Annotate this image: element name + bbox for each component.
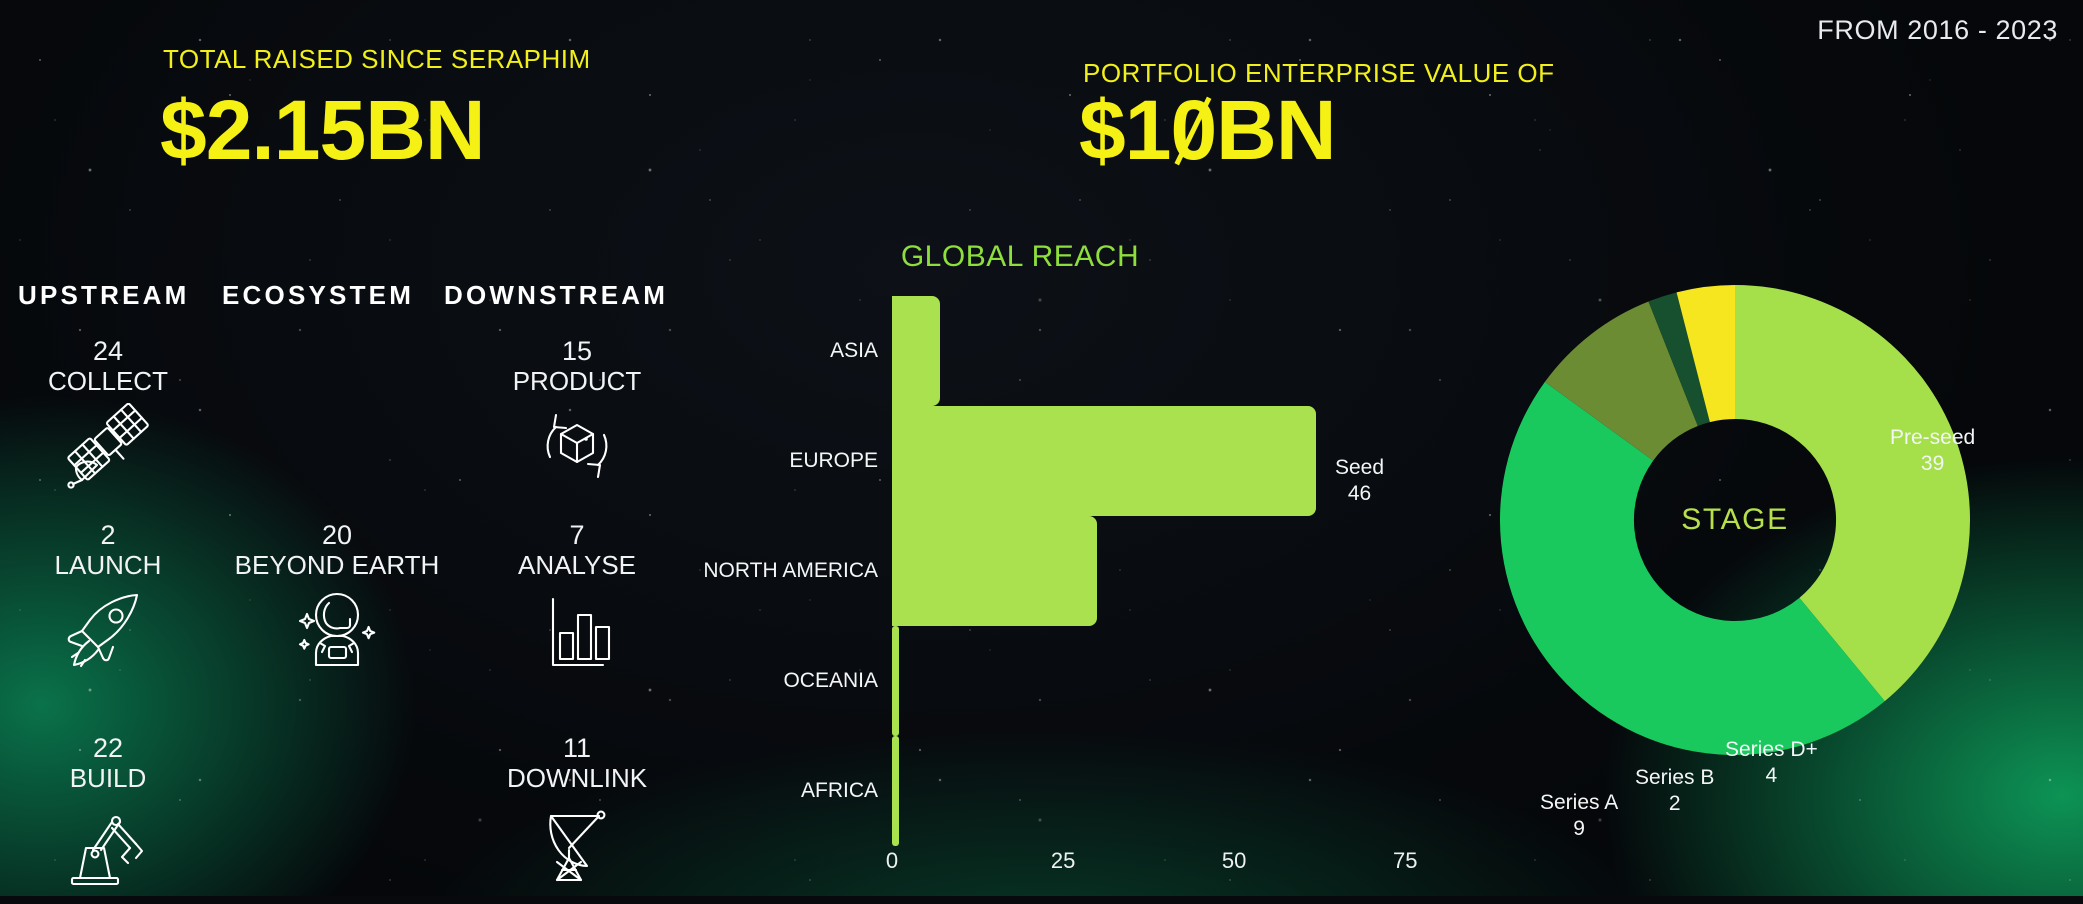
- bar-row: OCEANIA: [700, 626, 1460, 736]
- bar-row: NORTH AMERICA: [700, 516, 1460, 626]
- x-axis-tick: 0: [886, 848, 898, 874]
- bar-category-label: EUROPE: [700, 449, 892, 473]
- global-reach-chart: GLOBAL REACH ASIA EUROPE NORTH AMERICA: [700, 240, 1460, 880]
- sector-label: PRODUCT: [462, 367, 692, 397]
- satellite-dish-icon: [462, 800, 692, 886]
- content-layer: FROM 2016 - 2023 TOTAL RAISED SINCE SERA…: [0, 0, 2083, 904]
- sector-item-downlink: 11 DOWNLINK: [462, 733, 692, 886]
- donut-label-value: 39: [1890, 451, 1975, 477]
- sector-count: 22: [0, 733, 223, 764]
- bar-fill: [892, 626, 899, 736]
- sector-count: 15: [462, 336, 692, 367]
- x-axis: 0 25 50 75: [892, 848, 1460, 880]
- sector-count: 11: [462, 733, 692, 764]
- bar-row: AFRICA: [700, 736, 1460, 846]
- sector-breakdown: UPSTREAM ECOSYSTEM DOWNSTREAM 24 COLLECT: [0, 280, 700, 880]
- bar-fill: [892, 736, 899, 846]
- sector-item-collect: 24 COLLECT: [0, 336, 223, 489]
- stat-right-value-suffix: BN: [1216, 83, 1335, 177]
- sector-item-launch: 2 LAUNCH: [0, 520, 223, 673]
- sector-label: COLLECT: [0, 367, 223, 397]
- astronaut-icon: [222, 587, 452, 673]
- bar-category-label: AFRICA: [700, 779, 892, 803]
- donut-svg: [1500, 285, 1970, 755]
- sector-label: BEYOND EARTH: [222, 551, 452, 581]
- donut-label-name: Series D+: [1725, 737, 1818, 763]
- donut-rings: [1500, 285, 1970, 755]
- sector-count: 24: [0, 336, 223, 367]
- column-header-upstream: UPSTREAM: [18, 280, 190, 311]
- stat-left-kicker: TOTAL RAISED SINCE SERAPHIM: [163, 44, 591, 75]
- sector-label: DOWNLINK: [462, 764, 692, 794]
- sector-label: ANALYSE: [462, 551, 692, 581]
- bar-category-label: NORTH AMERICA: [700, 559, 892, 583]
- sector-label: LAUNCH: [0, 551, 223, 581]
- bar-fill: [892, 406, 1316, 516]
- donut-label-value: 4: [1725, 763, 1818, 789]
- donut-label-value: 2: [1635, 791, 1714, 817]
- stage-donut-chart: STAGE Pre-seed 39 Seed 46 Series A 9 Ser…: [1460, 285, 2020, 845]
- chart-title: GLOBAL REACH: [700, 240, 1340, 274]
- donut-label-value: 46: [1335, 481, 1384, 507]
- donut-label-series-b: Series B 2: [1635, 765, 1714, 818]
- rocket-icon: [0, 587, 223, 673]
- x-axis-tick: 50: [1222, 848, 1246, 874]
- infographic-canvas: FROM 2016 - 2023 TOTAL RAISED SINCE SERA…: [0, 0, 2083, 904]
- date-range-label: FROM 2016 - 2023: [1817, 15, 2058, 46]
- x-axis-tick: 25: [1051, 848, 1075, 874]
- donut-label-name: Seed: [1335, 455, 1384, 481]
- donut-slice-group: [1500, 285, 1970, 755]
- stat-left-value: $2.15BN: [160, 82, 485, 179]
- stat-right-value-prefix: $1: [1079, 83, 1170, 177]
- bar-row: ASIA: [700, 296, 1460, 406]
- sector-item-product: 15 PRODUCT: [462, 336, 692, 489]
- bar-category-label: ASIA: [700, 339, 892, 363]
- donut-label-series-d: Series D+ 4: [1725, 737, 1818, 790]
- satellite-icon: [0, 403, 223, 489]
- sector-count: 7: [462, 520, 692, 551]
- donut-label-series-a: Series A 9: [1540, 790, 1618, 843]
- donut-label-value: 9: [1540, 816, 1618, 842]
- bar-fill: [892, 296, 940, 406]
- bar-track: [892, 736, 1460, 846]
- bar-track: [892, 296, 1460, 406]
- donut-label-pre-seed: Pre-seed 39: [1890, 425, 1975, 478]
- column-header-downstream: DOWNSTREAM: [444, 280, 668, 311]
- donut-label-name: Series B: [1635, 765, 1714, 791]
- bar-chart-icon: [462, 587, 692, 673]
- sector-count: 2: [0, 520, 223, 551]
- sector-count: 20: [222, 520, 452, 551]
- donut-label-seed: Seed 46: [1335, 455, 1384, 508]
- sector-item-beyond-earth: 20 BEYOND EARTH: [222, 520, 452, 673]
- sector-label: BUILD: [0, 764, 223, 794]
- x-axis-tick: 75: [1393, 848, 1417, 874]
- package-cycle-icon: [462, 403, 692, 489]
- stat-right-value: $10BN: [1079, 82, 1335, 179]
- bottom-edge-bar: [0, 896, 2083, 904]
- column-header-ecosystem: ECOSYSTEM: [222, 280, 414, 311]
- stat-right-value-zero: 0: [1170, 82, 1216, 179]
- bar-category-label: OCEANIA: [700, 669, 892, 693]
- bar-fill: [892, 516, 1097, 626]
- sector-item-build: 22 BUILD: [0, 733, 223, 886]
- donut-label-name: Pre-seed: [1890, 425, 1975, 451]
- sector-item-analyse: 7 ANALYSE: [462, 520, 692, 673]
- bar-track: [892, 626, 1460, 736]
- donut-label-name: Series A: [1540, 790, 1618, 816]
- bar-track: [892, 516, 1460, 626]
- robot-arm-icon: [0, 800, 223, 886]
